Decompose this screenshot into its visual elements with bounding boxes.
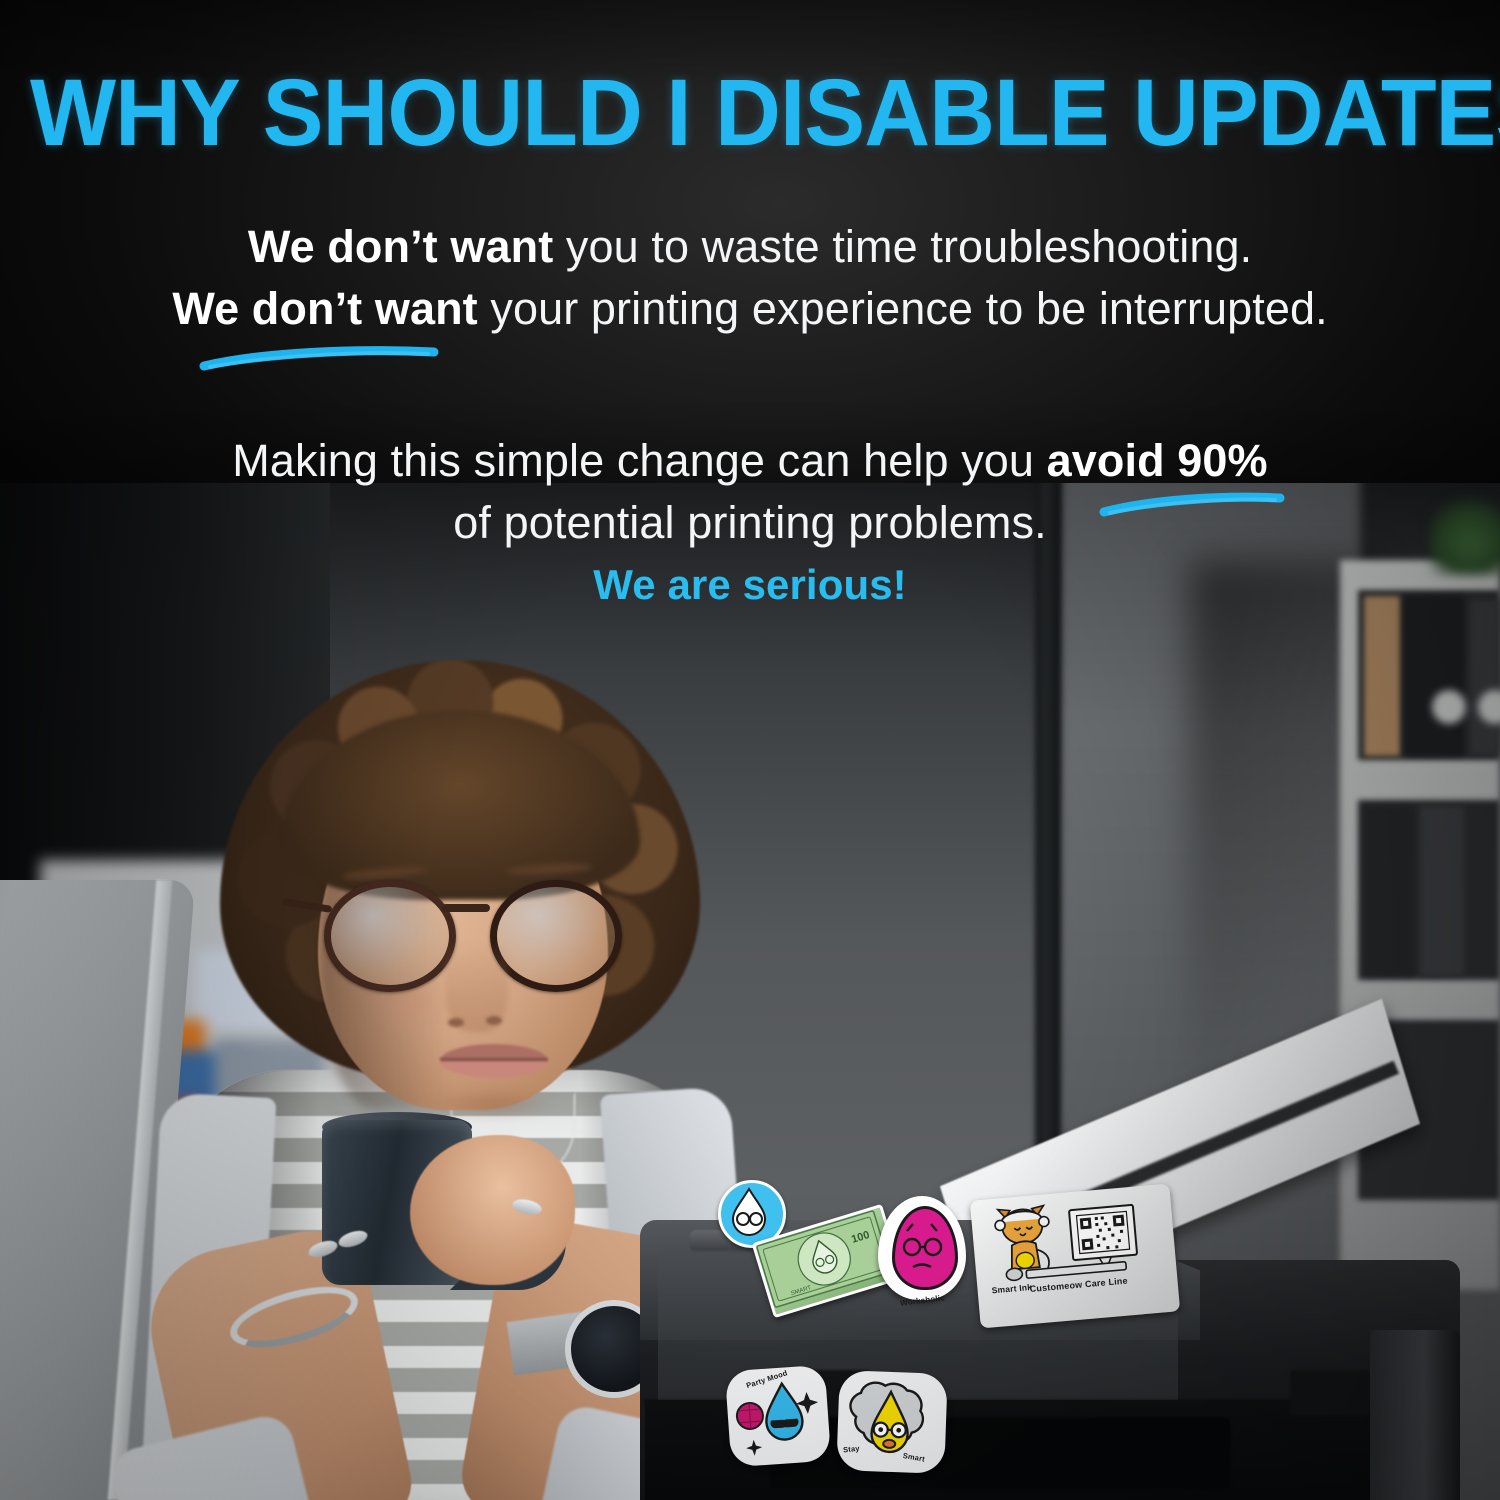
stat-line-1-bold: avoid 90%	[1047, 435, 1268, 486]
marker-underline-stroke-1	[200, 345, 440, 371]
emphasis-line: We are serious!	[0, 562, 1500, 608]
text-layer: WHY SHOULD I DISABLE UPDATES? We don’t w…	[0, 0, 1500, 1500]
marker-underline-stroke-2	[1100, 492, 1285, 518]
stat-line-1: Making this simple change can help you a…	[0, 436, 1500, 486]
benefit-line-1: We don’t want you to waste time troubles…	[0, 222, 1500, 272]
benefit-line-2-rest: your printing experience to be interrupt…	[478, 283, 1328, 334]
stat-line-1-plain: Making this simple change can help you	[232, 435, 1046, 486]
benefit-line-1-emphasis: We don’t want	[248, 221, 553, 272]
page-title: WHY SHOULD I DISABLE UPDATES?	[30, 66, 1470, 161]
benefit-line-2-emphasis: We don’t want	[172, 283, 477, 334]
benefit-line-1-rest: you to waste time troubleshooting.	[553, 221, 1252, 272]
benefit-line-2: We don’t want your printing experience t…	[0, 284, 1500, 334]
poster-canvas: 100 SMART Workaholic	[0, 0, 1500, 1500]
